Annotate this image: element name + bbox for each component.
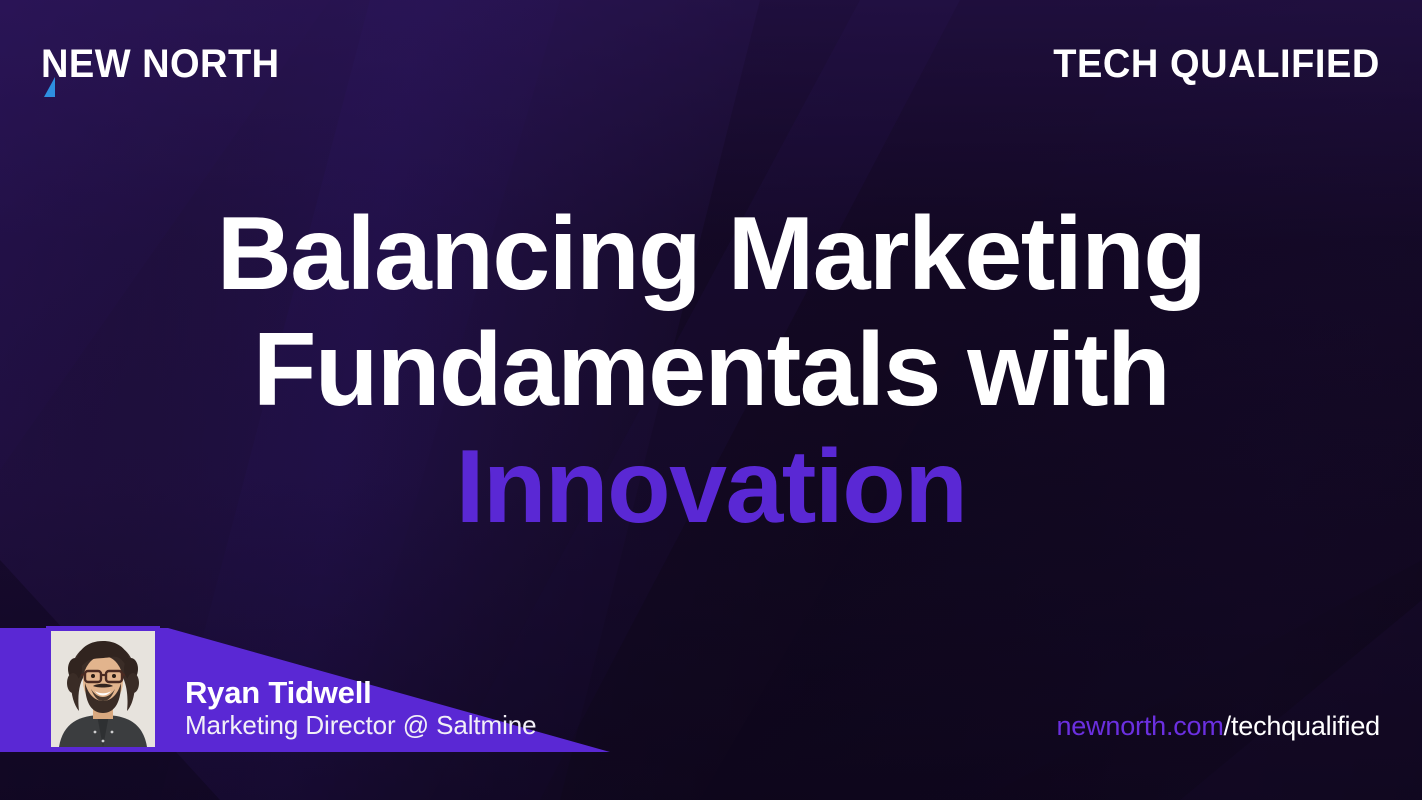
logo-tech-qualified: TECH QUALIFIED <box>1053 44 1380 84</box>
speaker-info: Ryan Tidwell Marketing Director @ Saltmi… <box>185 676 537 741</box>
footer-url-path: /techqualified <box>1224 711 1380 741</box>
logo-new-north-text: NEW NORTH <box>41 44 280 84</box>
footer-url[interactable]: newnorth.com/techqualified <box>1056 713 1380 740</box>
avatar <box>46 626 160 752</box>
speaker-role: Marketing Director @ Saltmine <box>185 711 537 741</box>
page-title: Balancing Marketing Fundamentals with In… <box>0 196 1422 545</box>
speaker-banner: Ryan Tidwell Marketing Director @ Saltmi… <box>0 600 720 800</box>
title-line-1: Balancing Marketing <box>0 196 1422 312</box>
presentation-slide: NEW NORTH TECH QUALIFIED Balancing Marke… <box>0 0 1422 800</box>
speaker-name: Ryan Tidwell <box>185 676 537 711</box>
logo-new-north: NEW NORTH <box>41 44 292 84</box>
title-line-3-accent: Innovation <box>0 429 1422 545</box>
title-line-2: Fundamentals with <box>0 312 1422 428</box>
footer-url-domain: newnorth.com <box>1056 711 1223 741</box>
